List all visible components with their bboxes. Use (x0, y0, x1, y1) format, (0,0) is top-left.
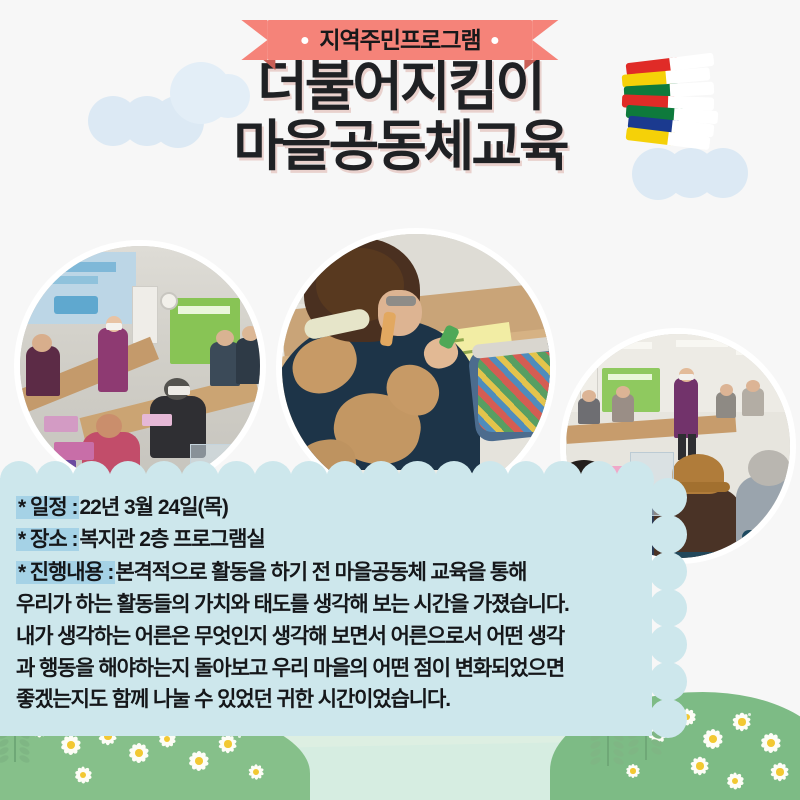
daisy (768, 760, 792, 784)
ribbon-label: 지역주민프로그램 (319, 29, 480, 52)
daisy-center (630, 768, 635, 773)
poster-canvas: 지역주민프로그램 더불어지킴이 마을공동체교육 (0, 0, 800, 800)
daisy-center (135, 749, 143, 757)
info-row-schedule: * 일정 :22년 3월 24일(목) (16, 492, 652, 524)
daisy (688, 754, 712, 778)
content-line-5: 좋겠는지도 함께 나눌 수 있었던 귀한 시간이었습니다. (16, 684, 652, 716)
content-line-4: 과 행동을 해야하는지 돌아보고 우리 마을의 어떤 점이 변화되었으면 (16, 653, 652, 685)
daisy-center (696, 762, 703, 769)
photo-classroom-lecture (14, 240, 266, 492)
content-line-3: 내가 생각하는 어른은 무엇인지 생각해 보면서 어른으로서 어떤 생각 (16, 621, 652, 653)
daisy (186, 748, 212, 774)
location-label: * 장소 : (16, 528, 79, 551)
info-row-location: * 장소 :복지관 2층 프로그램실 (16, 524, 652, 556)
book-stack-icon (620, 58, 720, 148)
content-text-1: 본격적으로 활동을 하기 전 마을공동체 교육을 통해 (115, 561, 526, 584)
content-line-2: 우리가 하는 활동들의 가치와 태도를 생각해 보는 시간을 가졌습니다. (16, 589, 652, 621)
daisy (724, 770, 746, 792)
content-label: * 진행내용 : (16, 561, 115, 584)
ribbon-dot-left-icon (301, 37, 308, 44)
daisy-center (195, 757, 203, 765)
ribbon-body: 지역주민프로그램 (267, 20, 532, 60)
ribbon-banner: 지역주민프로그램 (267, 20, 532, 60)
ribbon-dot-right-icon (492, 37, 499, 44)
daisy (700, 726, 726, 752)
daisy-center (738, 718, 745, 725)
ribbon-tail-left-icon (263, 60, 275, 70)
content-line-1: * 진행내용 :본격적으로 활동을 하기 전 마을공동체 교육을 통해 (16, 557, 652, 589)
daisy (246, 762, 266, 782)
daisy-center (767, 739, 775, 747)
info-content-block: * 진행내용 :본격적으로 활동을 하기 전 마을공동체 교육을 통해 우리가 … (16, 557, 652, 717)
daisy-center (67, 741, 75, 749)
location-value: 복지관 2층 프로그램실 (79, 528, 264, 551)
daisy-center (224, 740, 231, 747)
schedule-value: 22년 3월 24일(목) (79, 496, 227, 519)
daisy (758, 730, 784, 756)
ribbon-tail-right-icon (525, 60, 537, 70)
schedule-label: * 일정 : (16, 496, 79, 519)
daisy (126, 740, 152, 766)
daisy (72, 764, 94, 786)
panel-scallop-right (649, 478, 669, 736)
info-panel: * 일정 :22년 3월 24일(목) * 장소 :복지관 2층 프로그램실 *… (0, 478, 652, 736)
daisy-center (709, 735, 717, 743)
daisy (624, 762, 642, 780)
daisy-center (776, 768, 783, 775)
daisy-center (253, 769, 259, 775)
